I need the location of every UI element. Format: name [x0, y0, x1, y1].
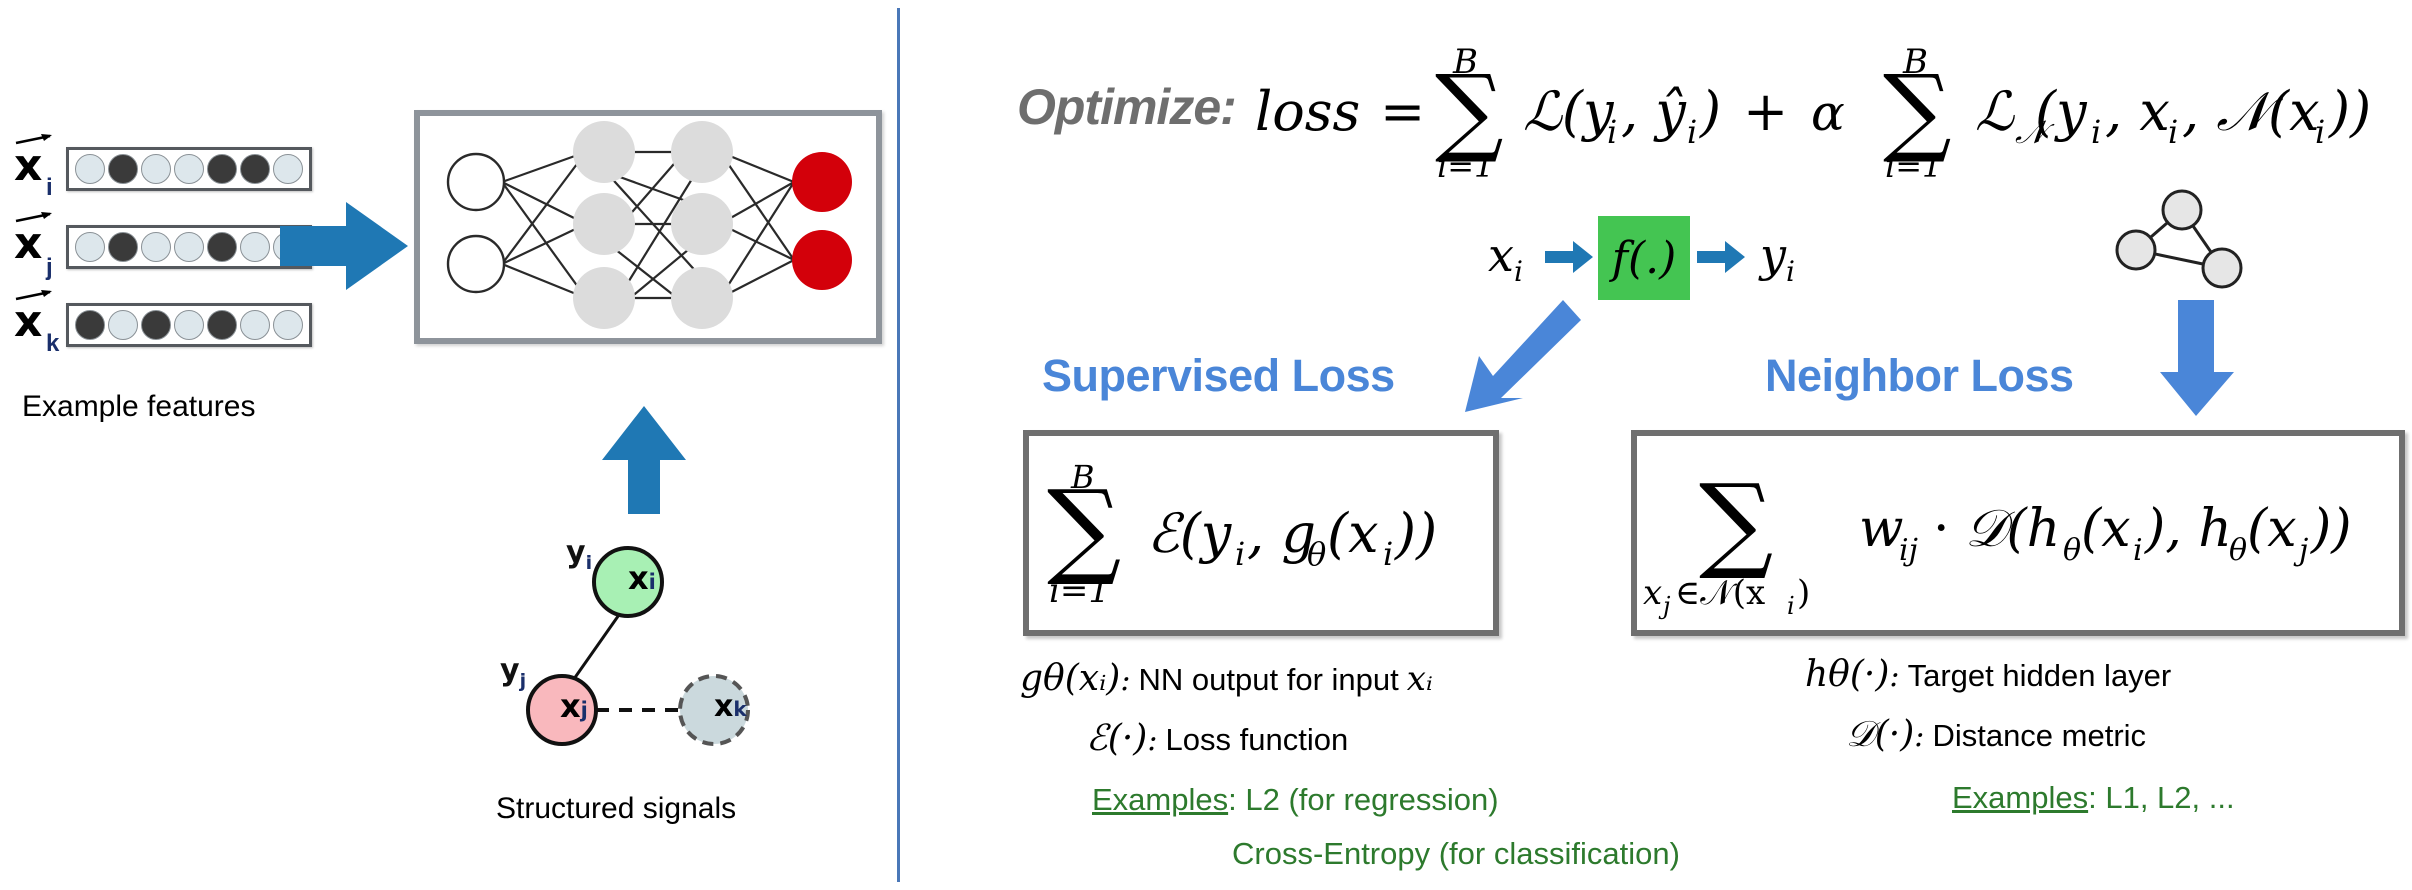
svg-text:θ: θ	[2063, 533, 2081, 568]
nn-output-node	[792, 230, 852, 290]
svg-text:ℒ: ℒ	[1975, 80, 2015, 143]
feature-vector-subscript: j	[46, 254, 53, 282]
svg-text:i: i	[1235, 535, 1245, 573]
supervised-legend-symbol: ℰ(·)	[1086, 718, 1147, 759]
svg-text:w: w	[1859, 499, 1904, 559]
feature-cell	[141, 232, 171, 262]
svg-text:i: i	[1607, 113, 1617, 151]
feature-vector-symbol: x	[14, 222, 42, 266]
feature-cell	[174, 232, 204, 262]
svg-text:(x: (x	[2247, 499, 2297, 559]
neighbor-legend-text: Target hidden layer	[1908, 658, 2172, 693]
svg-text:i: i	[1787, 592, 1795, 620]
supervised-legend-row: ℰ(·): Loss function	[1086, 718, 1348, 759]
svg-text:ℰ(y: ℰ(y	[1147, 502, 1233, 565]
neighbor-examples-label: Examples	[1952, 780, 2088, 815]
svg-text:(x: (x	[1327, 502, 1379, 565]
graph-y-label-j: yj	[500, 653, 526, 692]
pipeline-arrow-in-icon	[1545, 240, 1595, 274]
svg-text:=: =	[1380, 80, 1425, 143]
supervised-legend-row: gθ(xᵢ): NN output for input xᵢ	[1020, 658, 1433, 699]
feature-vector-cells	[66, 147, 312, 191]
feature-cell	[141, 310, 171, 340]
feature-vector-label: x i	[8, 130, 66, 208]
svg-text:i: i	[2091, 113, 2101, 151]
neighbor-legend-row: hθ(·): Target hidden layer	[1805, 654, 2171, 695]
supervised-legend-text: NN output for input	[1139, 662, 1399, 697]
supervised-loss-formula: B ∑ i=1 ℰ(y i , g θ (x i ))	[1029, 436, 1485, 622]
feature-vector-label: x j	[8, 208, 66, 286]
pipeline-arrow-out-icon	[1697, 240, 1747, 274]
feature-cell	[273, 310, 303, 340]
svg-text:(y: (y	[2035, 80, 2088, 143]
input-arrow-icon	[280, 196, 410, 296]
feature-cell	[141, 154, 171, 184]
supervised-examples-label: Examples	[1092, 782, 1228, 817]
neighbor-legend-row: 𝒟(·): Distance metric	[1846, 714, 2146, 756]
nn-hidden-node	[573, 121, 635, 183]
svg-text:+: +	[1743, 80, 1788, 143]
supervised-examples-row: Examples: L2 (for regression)	[1092, 782, 1499, 818]
svg-text:ℒ(y: ℒ(y	[1523, 80, 1615, 143]
svg-text:i: i	[2168, 113, 2178, 151]
neighbor-legend-separator: :	[1889, 659, 1899, 694]
supervised-legend-trailing-math: xᵢ	[1407, 659, 1433, 699]
svg-text:): )	[1699, 80, 1721, 143]
supervised-loss-arrow-icon	[1455, 298, 1585, 418]
function-box: f(.)	[1598, 216, 1690, 300]
structured-signals-caption: Structured signals	[496, 792, 736, 826]
svg-text:, ŷ: , ŷ	[1621, 80, 1687, 143]
svg-text:α: α	[1811, 84, 1845, 142]
svg-text:θ: θ	[1307, 535, 1326, 573]
svg-text:i: i	[1383, 535, 1393, 573]
feature-vector-subscript: k	[46, 330, 59, 358]
optimize-label: Optimize:	[1017, 78, 1236, 136]
feature-cell	[240, 310, 270, 340]
supervised-legend-symbol: gθ(xᵢ)	[1020, 658, 1120, 699]
svg-text:ij: ij	[1899, 533, 1918, 568]
feature-vector-row: x k	[8, 286, 312, 364]
supervised-legend-separator: :	[1147, 723, 1157, 758]
supervised-legend-separator: :	[1120, 663, 1130, 698]
svg-text:𝒟(h: 𝒟(h	[1965, 499, 2060, 559]
feature-cell	[108, 232, 138, 262]
svg-text:, 𝒩(x: , 𝒩(x	[2182, 80, 2320, 143]
svg-text:, x: , x	[2105, 80, 2170, 143]
feature-cell	[174, 310, 204, 340]
nn-hidden-node	[671, 267, 733, 329]
neighbor-loss-formula: ∑ x j ∈𝒩(x i ) w ij · 𝒟(h θ (x i ), h θ …	[1637, 436, 2391, 622]
example-features-caption: Example features	[22, 390, 255, 424]
svg-text:i=1: i=1	[1885, 147, 1942, 185]
svg-text:i: i	[2133, 533, 2143, 568]
neural-network-graph	[414, 110, 876, 338]
feature-cell	[207, 310, 237, 340]
graph-node-xj-label: xj	[560, 687, 588, 725]
feature-cell	[108, 154, 138, 184]
svg-text:i: i	[1687, 113, 1697, 151]
feature-cell	[108, 310, 138, 340]
svg-text:), h: ), h	[2144, 499, 2232, 559]
feature-cell	[75, 232, 105, 262]
svg-text:)): ))	[1394, 502, 1437, 565]
supervised-loss-formula-box: B ∑ i=1 ℰ(y i , g θ (x i ))	[1023, 430, 1499, 636]
svg-text:i: i	[2315, 113, 2325, 151]
supervised-example-item: L2 (for regression)	[1245, 782, 1498, 817]
feature-cell	[75, 310, 105, 340]
pipeline-input-label: xi	[1488, 228, 1523, 288]
feature-vector-cells	[66, 303, 312, 347]
feature-vector-subscript: i	[46, 174, 53, 202]
nn-hidden-node	[573, 193, 635, 255]
feature-vector-cells	[66, 225, 312, 269]
pipeline-output-label: yi	[1760, 228, 1795, 288]
nn-hidden-node	[573, 267, 635, 329]
supervised-legend-text: Loss function	[1166, 722, 1349, 757]
feature-cell	[75, 154, 105, 184]
neighbor-graph-icon	[2110, 180, 2270, 300]
neighbor-legend-symbol: 𝒟(·)	[1846, 714, 1914, 755]
feature-vector-symbol: x	[14, 300, 42, 344]
neighbor-loss-arrow-icon	[2160, 300, 2240, 420]
main-loss-formula: loss = B ∑ i=1 ℒ(y i , ŷ i ) + α B ∑ i=1…	[1255, 25, 2405, 185]
svg-text:x: x	[1643, 573, 1662, 613]
svg-text:i=1: i=1	[1437, 147, 1494, 185]
nn-output-node	[792, 152, 852, 212]
nn-input-node	[448, 154, 504, 210]
signals-arrow-icon	[600, 406, 688, 516]
svg-text:∑: ∑	[1699, 461, 1773, 583]
neighbor-loss-formula-box: ∑ x j ∈𝒩(x i ) w ij · 𝒟(h θ (x i ), h θ …	[1631, 430, 2405, 636]
svg-text:∈𝒩(x: ∈𝒩(x	[1675, 573, 1765, 613]
feature-cell	[240, 154, 270, 184]
supervised-examples-row: Cross-Entropy (for classification)	[1232, 836, 1680, 872]
nn-hidden-node	[671, 121, 733, 183]
structured-signals-graph	[500, 526, 820, 776]
svg-text:)): ))	[2310, 499, 2352, 559]
neighbor-legend-text: Distance metric	[1932, 718, 2146, 753]
graph-node-xi-label: xi	[628, 559, 656, 597]
function-box-label: f(.)	[1612, 233, 1677, 284]
neighbor-loss-title: Neighbor Loss	[1765, 350, 2074, 402]
supervised-loss-title: Supervised Loss	[1042, 350, 1395, 402]
feature-cell	[240, 232, 270, 262]
nn-input-node	[448, 236, 504, 292]
neighbor-example-item: L1, L2, ...	[2105, 780, 2234, 815]
feature-cell	[207, 154, 237, 184]
neighbor-legend-separator: :	[1914, 719, 1924, 754]
feature-cell	[273, 154, 303, 184]
feature-vector-row: x i	[8, 130, 312, 208]
graph-node-xk-label: xk	[714, 689, 747, 724]
feature-cell	[207, 232, 237, 262]
nn-hidden-node	[671, 193, 733, 255]
svg-text:loss: loss	[1255, 80, 1360, 143]
neighbor-legend-symbol: hθ(·)	[1805, 654, 1889, 695]
panel-divider	[897, 8, 900, 882]
svg-text:)): ))	[2328, 80, 2371, 143]
svg-text:i=1: i=1	[1049, 571, 1110, 611]
neighbor-examples-row: Examples: L1, L2, ...	[1952, 780, 2235, 816]
graph-y-label-i: yi	[566, 535, 592, 574]
svg-text:, g: , g	[1247, 502, 1316, 565]
feature-vector-label: x k	[8, 286, 66, 364]
svg-text:·: ·	[1933, 499, 1950, 559]
svg-text:(x: (x	[2081, 499, 2131, 559]
supervised-example-item: Cross-Entropy (for classification)	[1232, 836, 1680, 871]
svg-text:): )	[1797, 573, 1810, 613]
feature-cell	[174, 154, 204, 184]
feature-vector-row: x j	[8, 208, 312, 286]
feature-vector-symbol: x	[14, 144, 42, 188]
svg-text:θ: θ	[2229, 533, 2247, 568]
